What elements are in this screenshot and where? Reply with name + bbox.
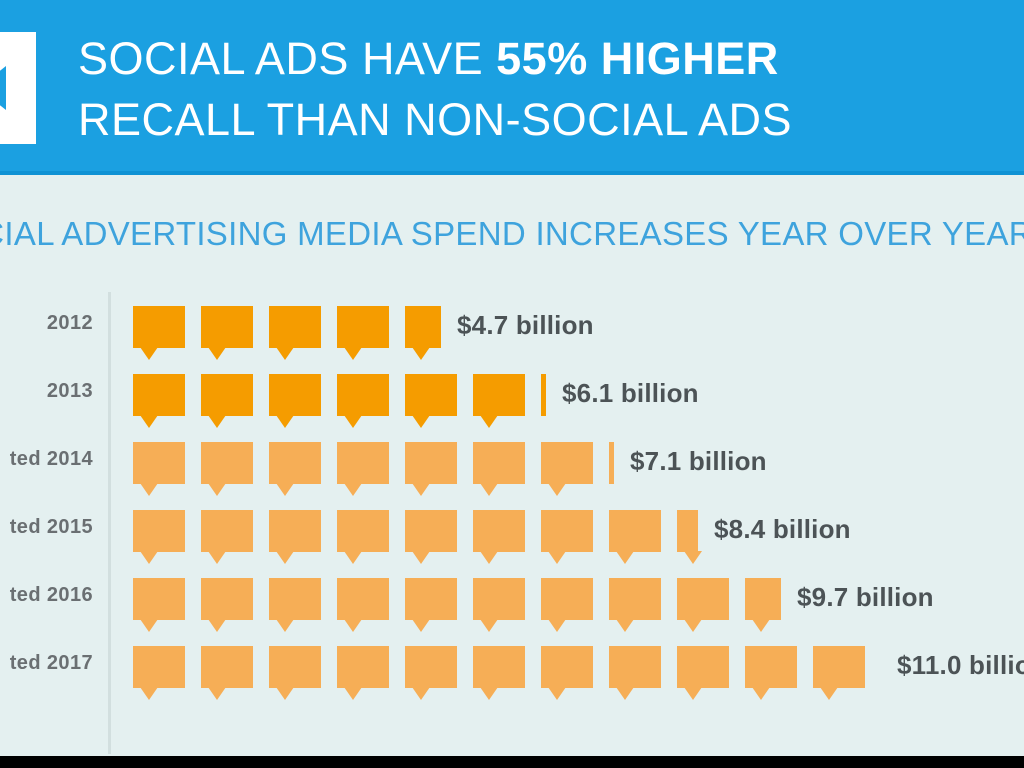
row-value-label: $6.1 billion <box>562 378 699 409</box>
speech-bubble-icon <box>405 374 457 416</box>
speech-bubble-icon <box>133 510 185 552</box>
row-year-label: ted 2015 <box>0 516 93 539</box>
speech-bubble-icon <box>269 306 321 348</box>
header-banner: SOCIAL ADS HAVE 55% HIGHER RECALL THAN N… <box>0 0 1024 175</box>
speech-bubble-icon <box>609 442 614 484</box>
row-icon-group <box>133 578 797 634</box>
speech-bubble-icon <box>269 374 321 416</box>
row-year-label: 2012 <box>0 312 93 335</box>
speech-bubble-icon <box>405 442 457 484</box>
row-year-label: ted 2014 <box>0 448 93 471</box>
speech-bubble-icon <box>541 510 593 552</box>
speech-bubble-icon <box>269 578 321 620</box>
speech-bubble-icon <box>269 442 321 484</box>
chart-row: ted 2016$9.7 billion <box>0 564 1024 632</box>
speech-bubble-icon <box>133 306 185 348</box>
infographic-root: SOCIAL ADS HAVE 55% HIGHER RECALL THAN N… <box>0 0 1024 768</box>
speech-bubble-icon <box>201 442 253 484</box>
speech-bubble-icon <box>337 442 389 484</box>
speech-bubble-icon <box>133 646 185 688</box>
row-icon-group <box>133 306 457 362</box>
speech-bubble-icon <box>541 578 593 620</box>
speech-bubble-icon <box>609 646 661 688</box>
speech-bubble-icon <box>201 374 253 416</box>
speech-bubble-icon <box>473 442 525 484</box>
triangle-play-logo-icon <box>0 32 36 144</box>
speech-bubble-icon <box>133 442 185 484</box>
speech-bubble-icon <box>473 578 525 620</box>
row-year-label: ted 2016 <box>0 584 93 607</box>
speech-bubble-icon <box>337 646 389 688</box>
chart-row: ted 2014$7.1 billion <box>0 428 1024 496</box>
speech-bubble-icon <box>337 510 389 552</box>
speech-bubble-icon <box>405 646 457 688</box>
speech-bubble-icon <box>405 306 441 348</box>
page-title: SOCIAL ADS HAVE 55% HIGHER RECALL THAN N… <box>78 28 1008 150</box>
speech-bubble-icon <box>201 646 253 688</box>
chart-rows: 2012$4.7 billion2013$6.1 billionted 2014… <box>0 292 1024 700</box>
speech-bubble-icon <box>269 646 321 688</box>
speech-bubble-icon <box>609 578 661 620</box>
page-title-prefix: SOCIAL ADS HAVE <box>78 33 496 84</box>
speech-bubble-icon <box>677 510 698 552</box>
row-value-label: $9.7 billion <box>797 582 934 613</box>
row-value-label: $11.0 billion <box>897 650 1024 681</box>
chart-row: 2013$6.1 billion <box>0 360 1024 428</box>
speech-bubble-icon <box>473 374 525 416</box>
speech-bubble-icon <box>337 374 389 416</box>
speech-bubble-icon <box>269 510 321 552</box>
speech-bubble-icon <box>745 578 781 620</box>
row-value-label: $8.4 billion <box>714 514 851 545</box>
speech-bubble-icon <box>541 646 593 688</box>
speech-bubble-icon <box>541 442 593 484</box>
speech-bubble-icon <box>405 578 457 620</box>
section-subtitle: SOCIAL ADVERTISING MEDIA SPEND INCREASES… <box>0 214 1024 254</box>
speech-bubble-icon <box>133 578 185 620</box>
speech-bubble-icon <box>337 306 389 348</box>
pictogram-chart: 2012$4.7 billion2013$6.1 billionted 2014… <box>0 292 1024 754</box>
row-value-label: $7.1 billion <box>630 446 767 477</box>
page-title-line-1: SOCIAL ADS HAVE 55% HIGHER <box>78 28 1008 89</box>
speech-bubble-icon <box>133 374 185 416</box>
speech-bubble-icon <box>677 578 729 620</box>
speech-bubble-icon <box>541 374 546 416</box>
page-title-highlight: 55% HIGHER <box>496 33 779 84</box>
chart-row: ted 2015$8.4 billion <box>0 496 1024 564</box>
row-icon-group <box>133 374 562 430</box>
speech-bubble-icon <box>201 510 253 552</box>
chart-row: 2012$4.7 billion <box>0 292 1024 360</box>
speech-bubble-icon <box>677 646 729 688</box>
page-title-line-2: RECALL THAN NON-SOCIAL ADS <box>78 89 1008 150</box>
row-year-label: ted 2017 <box>0 652 93 675</box>
bottom-letterbox-bar <box>0 756 1024 768</box>
speech-bubble-icon <box>473 510 525 552</box>
speech-bubble-icon <box>473 646 525 688</box>
speech-bubble-icon <box>405 510 457 552</box>
speech-bubble-icon <box>745 646 797 688</box>
speech-bubble-icon <box>337 578 389 620</box>
speech-bubble-icon <box>609 510 661 552</box>
row-icon-group <box>133 510 714 566</box>
row-icon-group <box>133 646 881 702</box>
row-icon-group <box>133 442 630 498</box>
row-value-label: $4.7 billion <box>457 310 594 341</box>
row-year-label: 2013 <box>0 380 93 403</box>
speech-bubble-icon <box>813 646 865 688</box>
chart-row: ted 2017$11.0 billion <box>0 632 1024 700</box>
speech-bubble-icon <box>201 306 253 348</box>
speech-bubble-icon <box>201 578 253 620</box>
